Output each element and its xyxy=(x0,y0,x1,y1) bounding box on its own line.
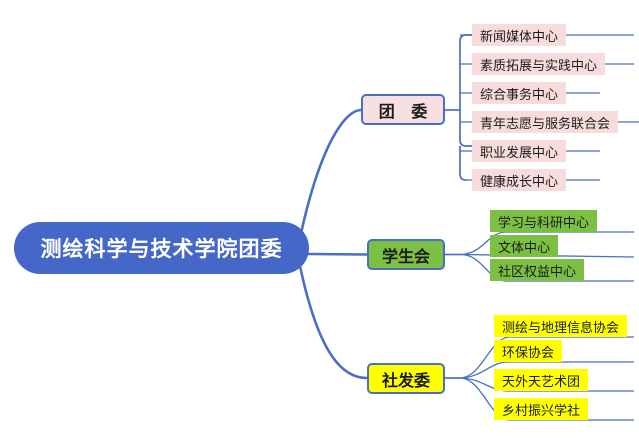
leaf-node-tw-2[interactable]: 综合事务中心 xyxy=(472,82,566,104)
leaf-node-sfw-2[interactable]: 天外天艺术团 xyxy=(494,369,588,391)
leaf-node-tw-3[interactable]: 青年志愿与服务联合会 xyxy=(472,111,618,133)
branch-node-xsh[interactable]: 学生会 xyxy=(367,239,445,270)
leaf-node-sfw-3-label: 乡村振兴学社 xyxy=(502,400,580,419)
connector-root-to-tw xyxy=(300,110,361,238)
mindmap-canvas: 测绘科学与技术学院团委 团 委 新闻媒体中心 素质拓展与实践中心 综合事务中心 … xyxy=(0,0,639,438)
leaf-node-tw-4[interactable]: 职业发展中心 xyxy=(472,140,566,162)
leaf-node-xsh-2[interactable]: 社区权益中心 xyxy=(490,259,584,281)
leaf-node-tw-5[interactable]: 健康成长中心 xyxy=(472,169,566,191)
connector-tw-bracket xyxy=(460,35,472,146)
branch-node-xsh-label: 学生会 xyxy=(382,243,430,267)
leaf-node-xsh-1[interactable]: 文体中心 xyxy=(490,235,558,257)
branch-node-sfw[interactable]: 社发委 xyxy=(367,363,445,394)
root-node[interactable]: 测绘科学与技术学院团委 xyxy=(14,222,309,274)
leaf-node-xsh-0-label: 学习与科研中心 xyxy=(498,212,589,231)
leaf-node-tw-3-label: 青年志愿与服务联合会 xyxy=(480,113,610,132)
connector-root-to-xsh xyxy=(309,254,367,255)
leaf-node-tw-0[interactable]: 新闻媒体中心 xyxy=(472,24,566,46)
leaf-node-sfw-0-label: 测绘与地理信息协会 xyxy=(502,317,619,336)
leaf-node-tw-4-label: 职业发展中心 xyxy=(480,142,558,161)
branch-node-tw-label: 团 委 xyxy=(373,98,433,122)
leaf-node-xsh-1-label: 文体中心 xyxy=(498,237,550,256)
root-node-label: 测绘科学与技术学院团委 xyxy=(41,233,283,263)
connector-root-to-sfw xyxy=(300,266,367,378)
leaf-node-tw-1-label: 素质拓展与实践中心 xyxy=(480,55,597,74)
leaf-node-sfw-1-label: 环保协会 xyxy=(502,342,554,361)
leaf-node-tw-2-label: 综合事务中心 xyxy=(480,84,558,103)
leaf-node-tw-0-label: 新闻媒体中心 xyxy=(480,26,558,45)
leaf-node-xsh-2-label: 社区权益中心 xyxy=(498,261,576,280)
branch-node-tw[interactable]: 团 委 xyxy=(361,94,445,125)
leaf-node-sfw-2-label: 天外天艺术团 xyxy=(502,371,580,390)
leaf-node-sfw-0[interactable]: 测绘与地理信息协会 xyxy=(494,315,627,337)
connector-tw-leaf-5 xyxy=(460,146,466,180)
leaf-node-tw-5-label: 健康成长中心 xyxy=(480,171,558,190)
leaf-node-sfw-1[interactable]: 环保协会 xyxy=(494,340,562,362)
leaf-node-sfw-3[interactable]: 乡村振兴学社 xyxy=(494,398,588,420)
branch-node-sfw-label: 社发委 xyxy=(382,367,430,391)
leaf-node-tw-1[interactable]: 素质拓展与实践中心 xyxy=(472,53,605,75)
leaf-node-xsh-0[interactable]: 学习与科研中心 xyxy=(490,210,597,232)
